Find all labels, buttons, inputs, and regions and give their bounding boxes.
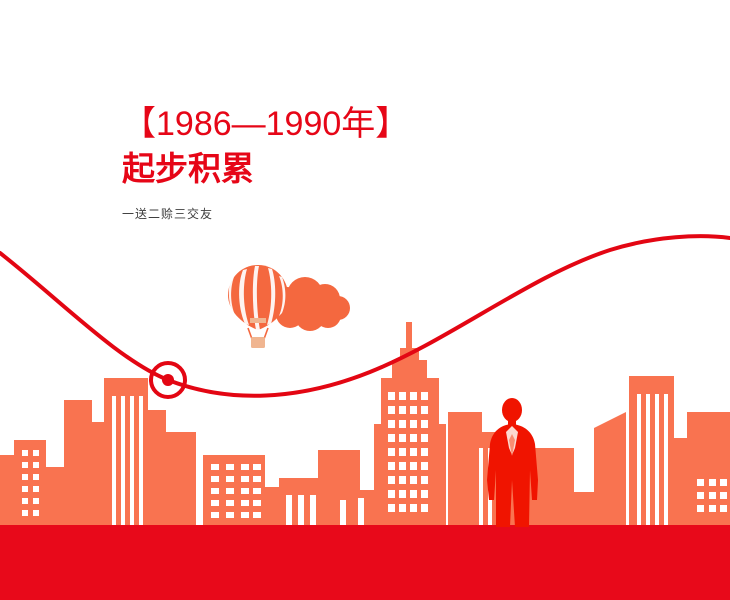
curve-marker — [151, 363, 185, 397]
trend-curve — [0, 236, 730, 396]
page-title-line2: 起步积累 — [122, 148, 409, 190]
heading-block: 【1986—1990年】 起步积累 一送二赊三交友 — [122, 104, 409, 222]
trend-curve-layer — [0, 0, 730, 600]
page-subtitle: 一送二赊三交友 — [122, 206, 409, 222]
page-title-line1: 【1986—1990年】 — [122, 104, 409, 144]
slide-canvas: 【1986—1990年】 起步积累 一送二赊三交友 — [0, 0, 730, 600]
